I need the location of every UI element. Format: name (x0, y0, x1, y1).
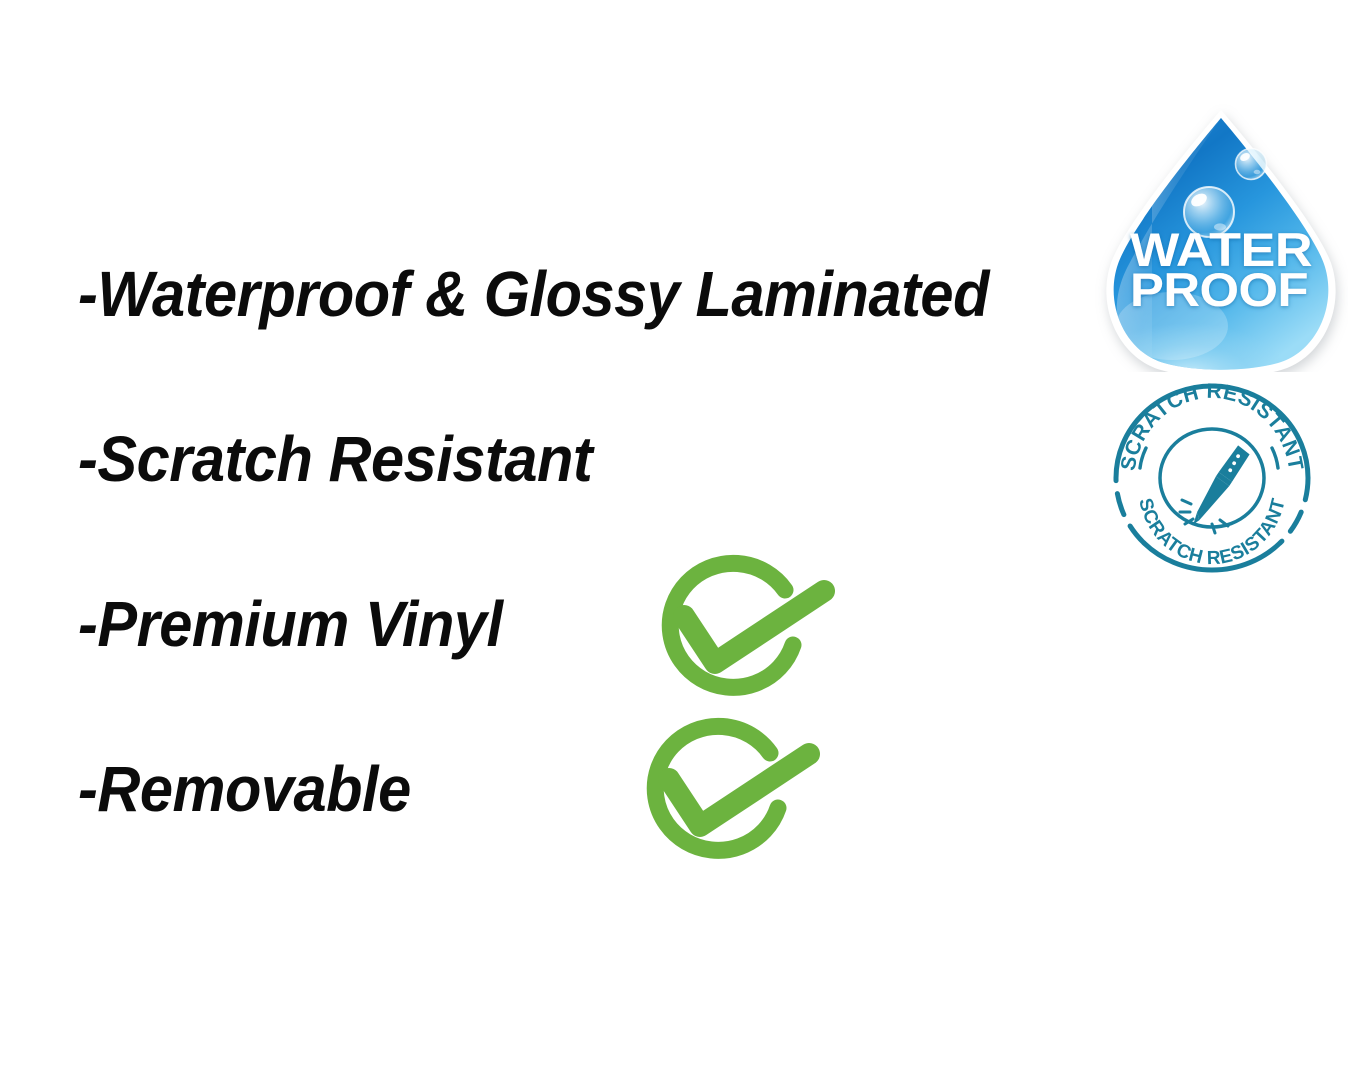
green-check-icon (635, 552, 845, 722)
feature-item-waterproof-glossy-laminated: -Waterproof & Glossy Laminated (78, 262, 989, 326)
feature-item-premium-vinyl: -Premium Vinyl (78, 592, 503, 656)
green-check-icon (620, 715, 830, 885)
check-circle-icon (620, 715, 830, 885)
scratch-bottom-text: SCRATCH RESISTANT (1134, 496, 1290, 569)
feature-list-graphic: -Waterproof & Glossy Laminated -Scratch … (0, 0, 1359, 1080)
scratch-top-text: SCRATCH RESISTANT (1117, 382, 1308, 472)
scratch-resistant-icon: SCRATCH RESISTANT SCRATCH RESISTANT (1112, 382, 1312, 574)
waterproof-label: WATER PROOF (1130, 223, 1312, 316)
check-mark-stroke (669, 754, 809, 826)
scratch-resistant-stamp-badge: SCRATCH RESISTANT SCRATCH RESISTANT (1112, 382, 1312, 574)
feature-item-scratch-resistant: -Scratch Resistant (78, 427, 592, 491)
waterproof-drop-icon: WATER PROOF (1094, 104, 1348, 372)
waterproof-drop-badge: WATER PROOF (1094, 104, 1348, 372)
feature-item-removable: -Removable (78, 757, 411, 821)
badge-inner-ring (1160, 429, 1264, 527)
check-circle-icon (635, 552, 845, 722)
water-bubble-small (1236, 149, 1267, 180)
check-mark-stroke (684, 591, 824, 663)
waterproof-text-line2: PROOF (1130, 263, 1308, 316)
